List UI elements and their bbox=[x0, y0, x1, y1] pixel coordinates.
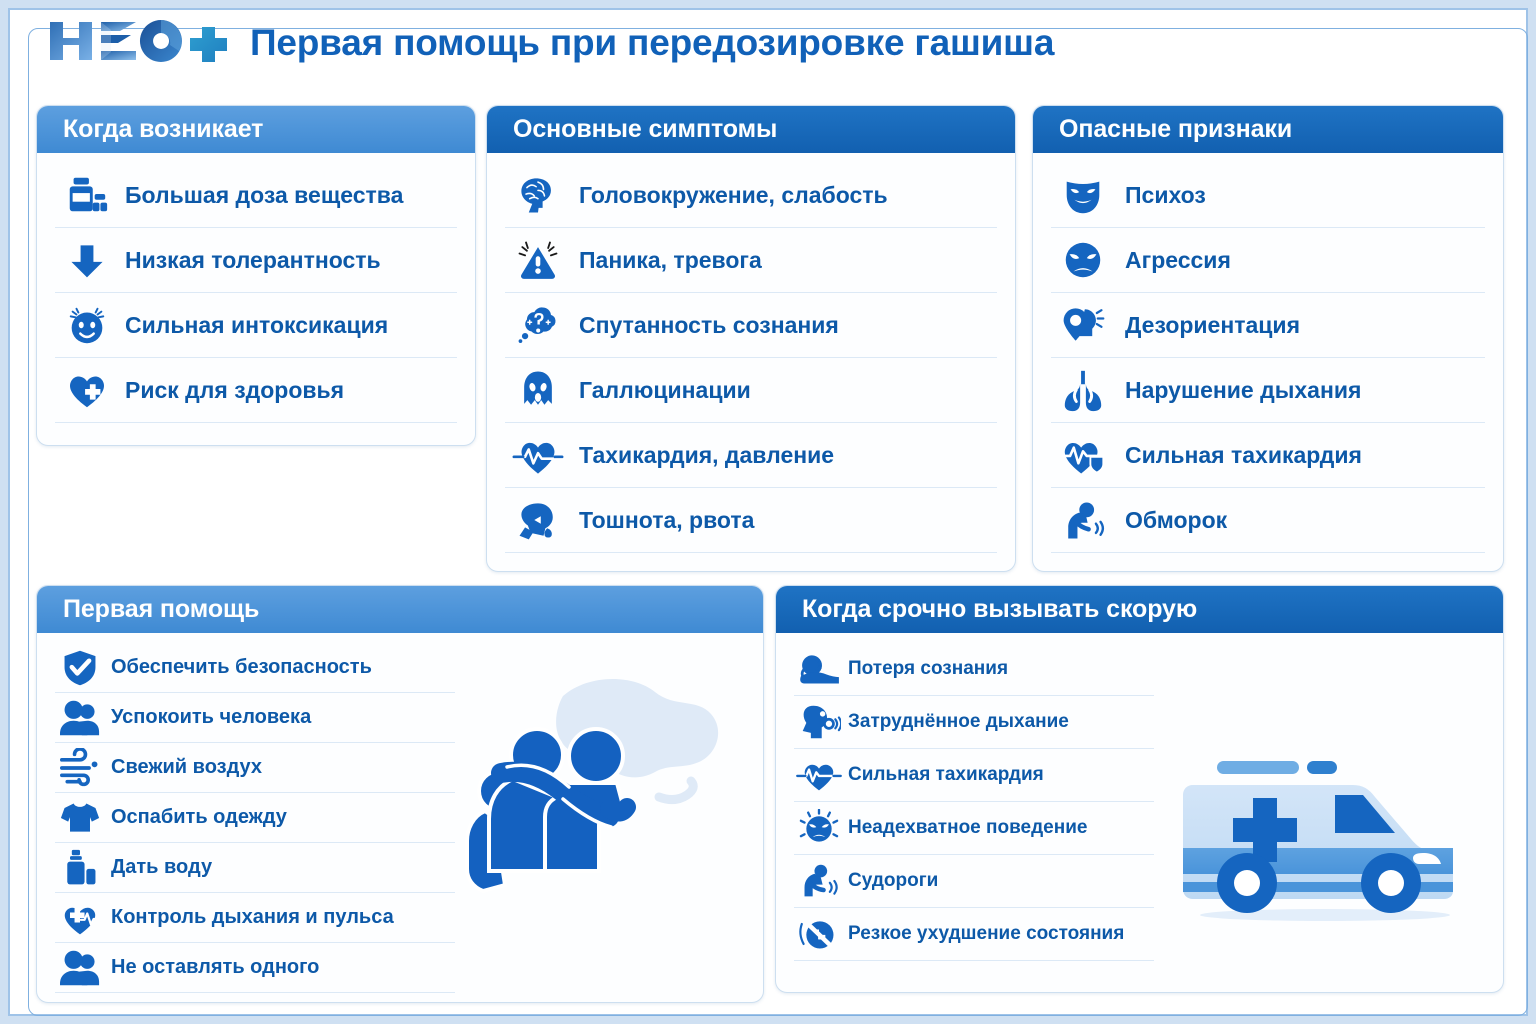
angry-face-icon bbox=[1051, 231, 1115, 289]
list-item-label: Неадехватное поведение bbox=[848, 817, 1087, 839]
list-item[interactable]: Дать воду bbox=[55, 843, 455, 893]
list-item-label: Галлюцинации bbox=[579, 377, 751, 404]
list-item-label: Сильная тахикардия bbox=[848, 764, 1044, 786]
list-item-label: Большая доза вещества bbox=[125, 182, 403, 209]
list-item-label: Спутанность сознания bbox=[579, 312, 839, 339]
list-item[interactable]: Низкая толерантность bbox=[55, 228, 457, 293]
list-item[interactable]: Дезориентация bbox=[1051, 293, 1485, 358]
fainting-person-icon bbox=[1051, 491, 1115, 549]
list-item[interactable]: Свежий воздух bbox=[55, 743, 455, 793]
list-item-label: Обморок bbox=[1125, 507, 1227, 534]
list-item-label: Резкое ухудшение состояния bbox=[848, 923, 1124, 945]
list-item[interactable]: Неадехватное поведение bbox=[794, 802, 1154, 855]
list-item-label: Оспабить одежду bbox=[111, 806, 287, 829]
heart-pulse-icon bbox=[505, 426, 571, 484]
heart-pulse-shield-icon bbox=[1051, 426, 1115, 484]
list-item-label: Успокоить человека bbox=[111, 706, 311, 729]
list-item[interactable]: Психоз bbox=[1051, 163, 1485, 228]
thought-question-icon bbox=[505, 296, 571, 354]
list-item-label: Дезориентация bbox=[1125, 312, 1300, 339]
list-item[interactable]: Спутанность сознания bbox=[505, 293, 997, 358]
breathing-difficulty-icon bbox=[794, 700, 844, 744]
decline-prohibited-icon bbox=[794, 912, 844, 956]
list-item[interactable]: Оспабить одежду bbox=[55, 793, 455, 843]
page-header: Первая помощь при передозировке гашиша bbox=[0, 0, 1536, 92]
seizure-person-icon bbox=[794, 859, 844, 903]
card-when-title: Когда возникает bbox=[37, 106, 475, 153]
down-arrow-icon bbox=[55, 231, 119, 289]
agitated-face-icon bbox=[794, 806, 844, 850]
list-item-label: Агрессия bbox=[1125, 247, 1231, 274]
list-item[interactable]: Сильная тахикардия bbox=[1051, 423, 1485, 488]
list-item-label: Контроль дыхания и пульса bbox=[111, 906, 394, 929]
list-item-label: Тахикардия, давление bbox=[579, 442, 834, 469]
list-item[interactable]: Резкое ухудшение состояния bbox=[794, 908, 1154, 961]
heart-pulse-icon bbox=[794, 753, 844, 797]
card-symptoms-title: Основные симптомы bbox=[487, 106, 1015, 153]
list-item-label: Паника, тревога bbox=[579, 247, 762, 274]
list-item[interactable]: Успокоить человека bbox=[55, 693, 455, 743]
list-item[interactable]: Потеря сознания bbox=[794, 643, 1154, 696]
card-danger-title: Опасные признаки bbox=[1033, 106, 1503, 153]
list-item[interactable]: Паника, тревога bbox=[505, 228, 997, 293]
heart-cross-pulse-icon bbox=[55, 896, 105, 940]
list-item-label: Сильная интоксикация bbox=[125, 312, 388, 339]
ambulance-illustration bbox=[1175, 743, 1475, 928]
dizzy-face-icon bbox=[55, 296, 119, 354]
card-when-occurs: Когда возникает Большая доза вещества bbox=[36, 105, 476, 446]
lungs-icon bbox=[1051, 361, 1115, 419]
warning-triangle-icon bbox=[505, 231, 571, 289]
page-title: Первая помощь при передозировке гашиша bbox=[250, 22, 1054, 64]
ghost-icon bbox=[505, 361, 571, 419]
card-call-ambulance: Когда срочно вызывать скорую bbox=[775, 585, 1504, 993]
list-item-label: Риск для здоровья bbox=[125, 377, 344, 404]
card-aid-body: Обеспечить безопасность Успокоить челове… bbox=[37, 633, 763, 1003]
list-item[interactable]: Большая доза вещества bbox=[55, 163, 457, 228]
pill-bottle-icon bbox=[55, 166, 119, 224]
list-item-label: Судороги bbox=[848, 870, 938, 892]
list-item[interactable]: Риск для здоровья bbox=[55, 358, 457, 423]
list-item[interactable]: Головокружение, слабость bbox=[505, 163, 997, 228]
list-item-label: Тошнота, рвота bbox=[579, 507, 754, 534]
two-people-icon bbox=[55, 946, 105, 990]
list-item-label: Сильная тахикардия bbox=[1125, 442, 1362, 469]
list-item-label: Низкая толерантность bbox=[125, 247, 381, 274]
tshirt-icon bbox=[55, 796, 105, 840]
list-item[interactable]: Агрессия bbox=[1051, 228, 1485, 293]
list-item-label: Обеспечить безопасность bbox=[111, 656, 372, 679]
card-call-body: Потеря сознания Затруднённое дыхание bbox=[776, 633, 1503, 971]
list-item[interactable]: Затруднённое дыхание bbox=[794, 696, 1154, 749]
evil-mask-icon bbox=[1051, 166, 1115, 224]
list-item[interactable]: Не оставлять одного bbox=[55, 943, 455, 993]
list-item-label: Психоз bbox=[1125, 182, 1206, 209]
two-people-support-illustration bbox=[463, 661, 763, 896]
card-danger-body: Психоз Агрессия bbox=[1033, 153, 1503, 563]
list-item-label: Нарушение дыхания bbox=[1125, 377, 1361, 404]
card-first-aid: Первая помощь bbox=[36, 585, 764, 1003]
neo-plus-logo bbox=[44, 14, 234, 76]
list-item[interactable]: Сильная интоксикация bbox=[55, 293, 457, 358]
list-item[interactable]: Контроль дыхания и пульса bbox=[55, 893, 455, 943]
list-item-label: Свежий воздух bbox=[111, 756, 262, 779]
list-item[interactable]: Сильная тахикардия bbox=[794, 749, 1154, 802]
list-item-label: Головокружение, слабость bbox=[579, 182, 888, 209]
list-item-label: Потеря сознания bbox=[848, 658, 1008, 680]
list-item[interactable]: Обеспечить безопасность bbox=[55, 643, 455, 693]
card-symptoms-body: Головокружение, слабость Паника, тревога bbox=[487, 153, 1015, 563]
unconscious-person-icon bbox=[794, 647, 844, 691]
two-people-icon bbox=[55, 696, 105, 740]
list-item-label: Затруднённое дыхание bbox=[848, 711, 1069, 733]
card-main-symptoms: Основные симптомы Головокружение, слабос… bbox=[486, 105, 1016, 572]
list-item-label: Дать воду bbox=[111, 856, 212, 879]
list-item[interactable]: Судороги bbox=[794, 855, 1154, 908]
list-item[interactable]: Тахикардия, давление bbox=[505, 423, 997, 488]
card-aid-title: Первая помощь bbox=[37, 586, 763, 633]
head-pin-icon bbox=[1051, 296, 1115, 354]
shield-check-icon bbox=[55, 646, 105, 690]
list-item[interactable]: Обморок bbox=[1051, 488, 1485, 553]
list-item[interactable]: Галлюцинации bbox=[505, 358, 997, 423]
brain-icon bbox=[505, 166, 571, 224]
list-item[interactable]: Тошнота, рвота bbox=[505, 488, 997, 553]
card-danger-signs: Опасные признаки Психоз bbox=[1032, 105, 1504, 572]
vomiting-head-icon bbox=[505, 491, 571, 549]
heart-cross-icon bbox=[55, 361, 119, 419]
list-item[interactable]: Нарушение дыхания bbox=[1051, 358, 1485, 423]
wind-icon bbox=[55, 746, 105, 790]
card-call-title: Когда срочно вызывать скорую bbox=[776, 586, 1503, 633]
list-item-label: Не оставлять одного bbox=[111, 956, 319, 979]
card-when-body: Большая доза вещества Низкая толерантнос… bbox=[37, 153, 475, 433]
water-bottle-icon bbox=[55, 846, 105, 890]
